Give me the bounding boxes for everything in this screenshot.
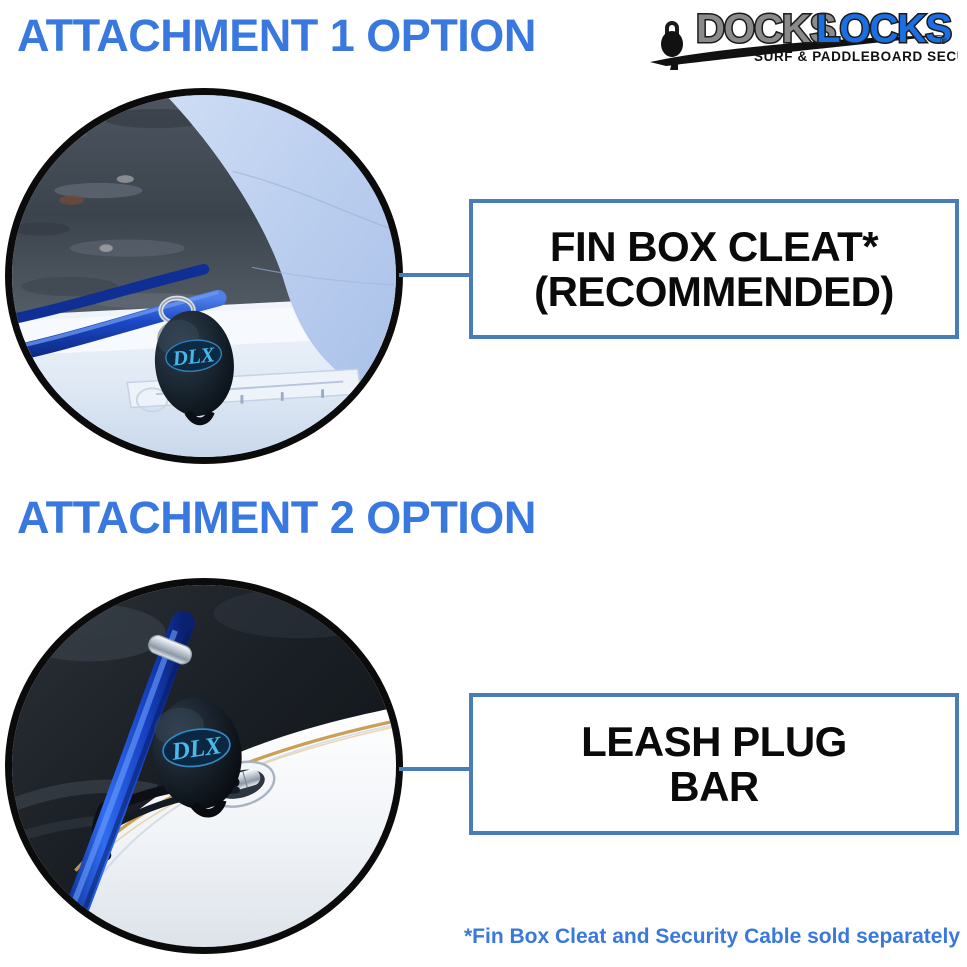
logo-text-docks: DOCKS — [696, 7, 836, 51]
callout-leash-plug-bar: LEASH PLUG BAR — [469, 693, 959, 835]
leash-plug-bar-photo-image: DLX — [12, 585, 396, 947]
callout-1-line-1: FIN BOX CLEAT* — [550, 224, 878, 269]
callout-fin-box-cleat: FIN BOX CLEAT* (RECOMMENDED) — [469, 199, 959, 339]
footnote-disclaimer: *Fin Box Cleat and Security Cable sold s… — [380, 925, 960, 949]
section-heading-attachment-2: ATTACHMENT 2 OPTION — [17, 492, 536, 544]
fin-box-cleat-photo-image: DLX — [12, 95, 396, 457]
callout-2-line-2: BAR — [669, 764, 759, 809]
callout-1-line-2: (RECOMMENDED) — [534, 269, 894, 314]
dockslocks-logo: DOCKS LOCKS ® SURF & PADDLEBOARD SECURIT… — [648, 2, 958, 70]
connector-line-2 — [399, 767, 471, 771]
logo-registered-mark: ® — [940, 36, 947, 46]
logo-tagline: SURF & PADDLEBOARD SECURITY — [754, 49, 958, 64]
fin-box-cleat-photo: DLX — [5, 88, 403, 464]
logo-text-locks: LOCKS — [816, 7, 951, 51]
leash-plug-bar-photo: DLX — [5, 578, 403, 954]
lock-badge-text-1: DLX — [170, 342, 216, 370]
callout-2-line-1: LEASH PLUG — [581, 719, 847, 764]
section-heading-attachment-1: ATTACHMENT 1 OPTION — [17, 10, 536, 62]
connector-line-1 — [399, 273, 471, 277]
product-infographic: ATTACHMENT 1 OPTION DOCKS LOCKS ® SURF &… — [0, 0, 967, 967]
